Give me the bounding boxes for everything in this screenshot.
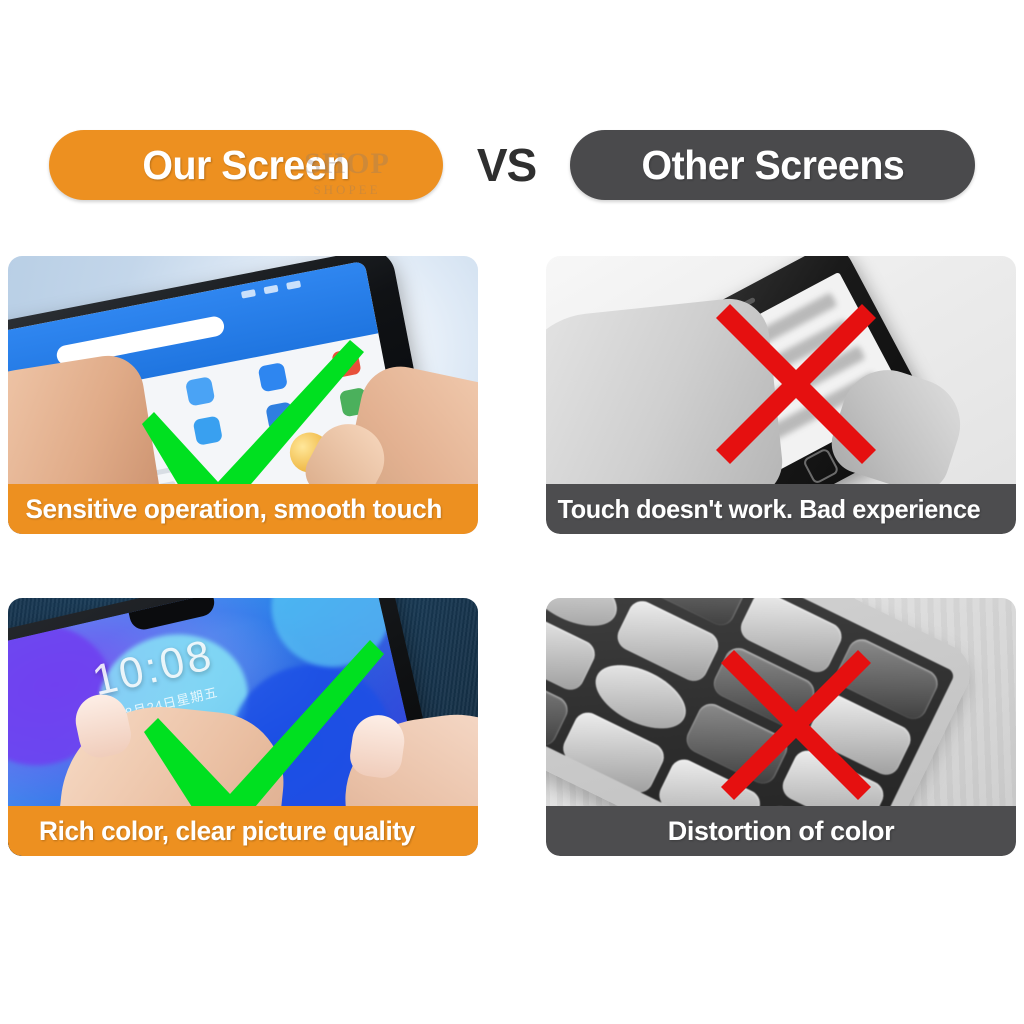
vs-label: VS xyxy=(477,138,536,192)
app-icon xyxy=(266,401,296,431)
caption-bar-bottom-right: Distortion of color xyxy=(546,806,1016,856)
battery-icon xyxy=(286,280,301,290)
app-icon xyxy=(331,348,361,378)
status-icon xyxy=(241,289,256,299)
wifi-icon xyxy=(263,285,278,295)
other-screens-label: Other Screens xyxy=(641,142,904,189)
other-screens-pill: Other Screens xyxy=(570,130,975,200)
caption-text: Sensitive operation, smooth touch xyxy=(8,494,442,525)
app-icon xyxy=(258,362,288,392)
wallpaper-blob xyxy=(260,598,404,679)
panel-top-right: Touch doesn't work. Bad experience xyxy=(546,256,1016,534)
our-screen-label: Our Screen xyxy=(142,142,349,189)
caption-text: Touch doesn't work. Bad experience xyxy=(546,494,980,525)
panel-bottom-left: 10:08 8月24日星期五 Rich color, clear picture… xyxy=(8,598,478,856)
our-screen-pill: Our Screen xyxy=(49,130,443,200)
app-icon xyxy=(185,376,215,406)
caption-bar-top-left: Sensitive operation, smooth touch xyxy=(8,484,478,534)
panel-bottom-right: Distortion of color xyxy=(546,598,1016,856)
caption-text: Distortion of color xyxy=(546,816,1016,847)
caption-text: Rich color, clear picture quality xyxy=(8,816,415,847)
caption-bar-top-right: Touch doesn't work. Bad experience xyxy=(546,484,1016,534)
panel-top-left: Sensitive operation, smooth touch xyxy=(8,256,478,534)
comparison-infographic: Our Screen VS Other Screens SHOP SHOPEE xyxy=(0,0,1024,1024)
caption-bar-bottom-left: Rich color, clear picture quality xyxy=(8,806,478,856)
screen-notch xyxy=(129,598,217,632)
app-icon xyxy=(193,415,223,445)
comparison-header: Our Screen VS Other Screens xyxy=(0,122,1024,208)
